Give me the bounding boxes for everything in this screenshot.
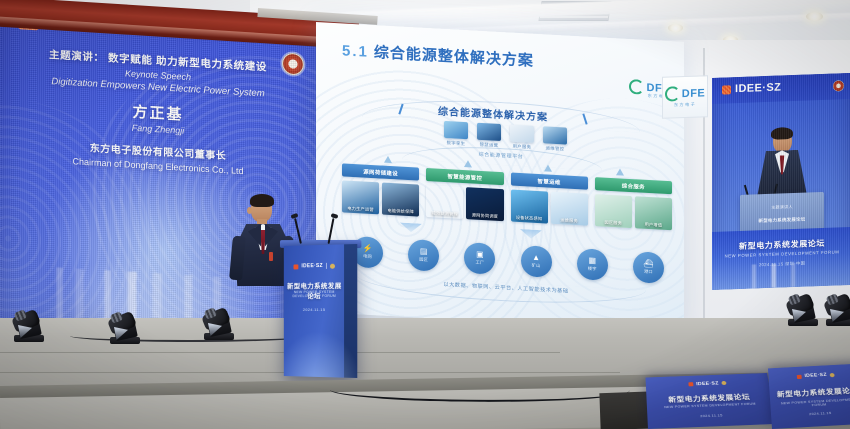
building-icon: ▦ [588,257,596,265]
people-icon [510,125,534,143]
vendor-placard: DFE 东方电子 [662,75,708,119]
card-caption: 电力生产运营 [342,205,379,213]
podium: IDEE·SZ 新型电力系统发展论坛 NEW POWER SYSTEM DEVE… [284,244,357,378]
podium-logo: IDEE·SZ [284,263,345,270]
group-card: 用户增值 [635,196,672,230]
moving-head-light [202,306,236,340]
circle-label: 电网 [363,254,372,260]
vendor-placard-sub: 东方电子 [674,102,696,109]
panel-emblem-icon [829,373,834,377]
factory-icon: ▣ [476,251,484,259]
mine-icon: ▲ [532,254,540,262]
card-caption: 运维服务 [551,217,588,225]
foreground-panel: IDEE·SZ 新型电力系统发展论坛 NEW POWER SYSTEM DEVE… [645,373,777,429]
circle-label: 港口 [644,269,653,275]
speaker-ribbon-badge [269,252,273,261]
top-icon-label: 运维管控 [543,145,567,152]
panel-title-cn: 新型电力系统发展论坛 [769,385,850,399]
panel-date: 2024.11.15 [771,408,850,418]
foreground-panel: IDEE·SZ 新型电力系统发展论坛 NEW POWER SYSTEM DEVE… [768,364,850,429]
moving-head-light [786,292,820,326]
group-header: 智慧运维 [511,173,588,190]
stage-cable [70,330,310,342]
speaker-hair [250,194,274,207]
podium-title-en: NEW POWER SYSTEM DEVELOPMENT FORUM [288,290,341,298]
circle-label: 楼宇 [588,266,597,272]
vendor-placard-logo: DFE [665,85,706,101]
group-header: 源网荷储建设 [342,163,419,180]
idee-logo-mark-icon [797,375,802,379]
vendor-placard-text: DFE [682,87,706,100]
campus-icon: ▤ [420,248,428,256]
slide-title: 5.1综合能源整体解决方案 [342,39,534,70]
speaker-ear [247,207,252,214]
idee-logo-mark-icon [688,382,693,386]
port-icon: ⛴ [643,260,653,269]
diagram-top-icon-item: 用户服务 [510,125,534,151]
panel-logo-text: IDEE·SZ [696,381,719,387]
logo-divider [326,263,327,269]
group-card: 能效监测管理 [426,185,463,219]
card-caption: 源网协同调度 [466,212,503,220]
circle-label: 矿山 [532,263,541,269]
podium-glow [284,331,357,378]
led-pixel-grid [712,73,850,290]
circle-label: 园区 [419,257,428,263]
moving-head-light [824,292,850,326]
podium-logo-text: IDEE·SZ [301,263,323,269]
left-screen-emblem-icon [282,52,304,75]
card-caption: 园区服务 [595,219,632,227]
moving-head-light [12,308,46,342]
circle-label: 工厂 [475,260,484,266]
diagram-top-icon-item: 数字孪生 [444,121,468,147]
ceiling-downlight [668,24,683,32]
group-cards: 设备状态感知 运维服务 [511,190,588,226]
card-caption: 设备状态感知 [511,215,548,223]
diagram-top-icon-item: 智慧运营 [477,123,501,149]
group-header: 综合服务 [595,177,672,194]
arrow-up-icon [544,164,552,171]
application-circle: ▣ 工厂 [464,242,495,275]
diagram-group: 源网荷储建设 电力生产运营 电能供给保障 [342,163,419,216]
right-led-screen: IDEE·SZ 主题演讲人 新型电力系统发展论坛 新型电力系统发展论坛 NEW … [712,73,850,290]
podium-emblem-icon [330,263,335,268]
panel-title-en: NEW POWER SYSTEM DEVELOPMENT FORUM [776,398,850,410]
panel-emblem-icon [721,381,726,385]
ceiling-downlight [806,12,823,21]
panel-logo: IDEE·SZ [768,371,850,381]
dfe-ring-icon [629,79,644,95]
diagram-group: 综合服务 园区服务 用户增值 [595,177,672,230]
grid-icon: ⚡ [363,245,373,254]
group-card: 运维服务 [551,192,588,226]
floor-seam [0,352,560,353]
group-card: 电能供给保障 [382,183,419,217]
conference-stage-photo: IDEE·SZ 主题演讲： 数字赋能 助力新型电力系统建设 Keynote Sp… [0,0,850,429]
left-led-screen: IDEE·SZ 主题演讲： 数字赋能 助力新型电力系统建设 Keynote Sp… [0,0,318,346]
diagram-group: 智慧运维 设备状态感知 运维服务 [511,173,588,226]
arrow-up-icon [384,156,392,163]
application-circle: ▤ 园区 [408,239,439,272]
group-card: 园区服务 [595,194,632,228]
server-icon [477,123,501,141]
arrow-up-icon [464,160,472,167]
workstation-icon [543,126,567,144]
moving-head-light [108,310,142,344]
card-caption: 能效监测管理 [426,210,463,218]
dfe-ring-icon [665,86,680,102]
top-icon-label: 数字孪生 [444,139,468,146]
panel-logo-text: IDEE·SZ [804,373,827,379]
group-card: 电力生产运营 [342,180,379,214]
idee-logo-mark-icon [294,264,299,269]
panel-logo: IDEE·SZ [646,379,769,388]
podium-date: 2024.11.15 [284,307,345,312]
keynote-title-block: 主题演讲： 数字赋能 助力新型电力系统建设 Keynote Speech Dig… [32,48,284,180]
group-card: 源网协同调度 [466,187,503,221]
group-cards: 能效监测管理 源网协同调度 [426,185,503,221]
group-card: 设备状态感知 [511,190,548,224]
center-projection-screen: 5.1综合能源整体解决方案 DFE 东方电子 综合能源整体解决方案 数字孪生 智… [316,22,684,332]
diagram-group: 智慧能源管控 能效监测管理 源网协同调度 [426,168,503,221]
card-caption: 电能供给保障 [382,208,419,216]
application-circle: ▲ 矿山 [521,245,552,278]
monitor-icon [444,121,468,139]
panel-date: 2024.11.15 [647,411,775,420]
group-header: 智慧能源管控 [426,168,503,185]
application-circle: ▦ 楼宇 [577,248,608,281]
group-cards: 电力生产运营 电能供给保障 [342,180,419,216]
arrow-up-icon [616,168,624,175]
group-cards: 园区服务 用户增值 [595,194,672,230]
application-circle: ⛴ 港口 [633,251,664,284]
slide-number: 5.1 [342,42,369,60]
diagram-top-icon-item: 运维管控 [543,126,567,152]
card-caption: 用户增值 [635,221,672,229]
